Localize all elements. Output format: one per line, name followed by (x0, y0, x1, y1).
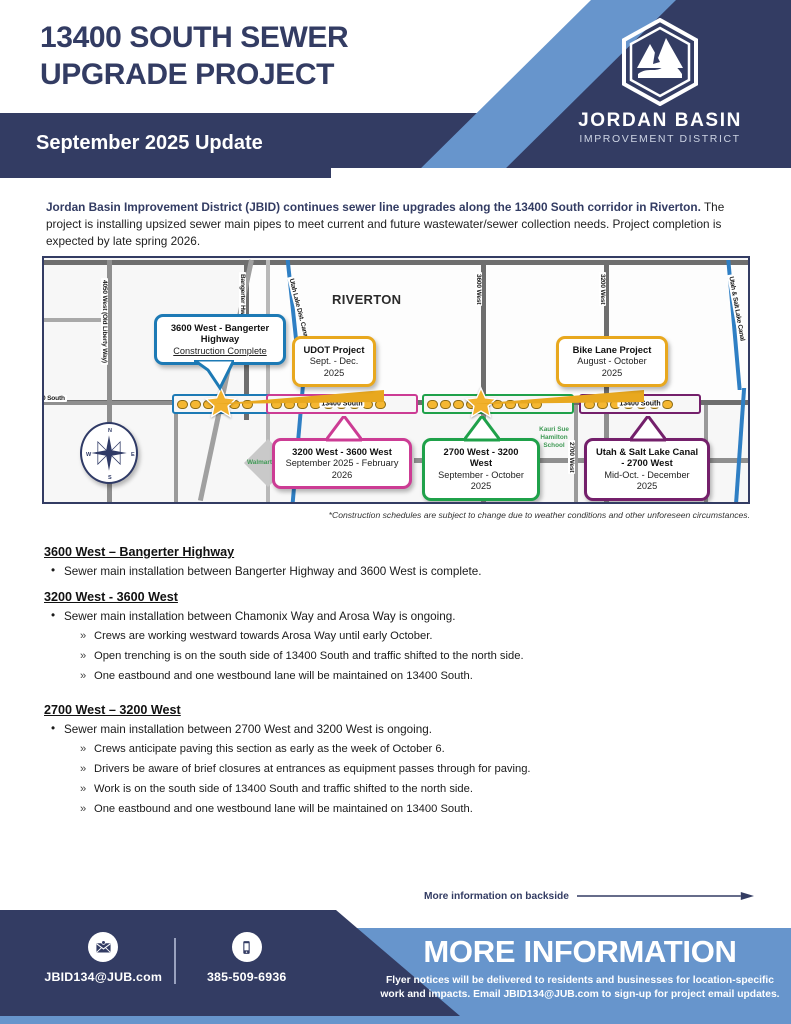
backside-label: More information on backside (424, 891, 569, 902)
page-title: 13400 SOUTH SEWER UPGRADE PROJECT (40, 20, 500, 93)
sub-bullet-item: Open trenching is on the south side of 1… (94, 649, 754, 664)
sub-bullet-item: Drivers be aware of brief closures at en… (94, 762, 754, 777)
arrow-right-icon (577, 891, 754, 901)
leader-line-bike-lane (474, 388, 644, 418)
callout-2700-3200[interactable]: 2700 West - 3200 West September - Octobe… (422, 438, 540, 501)
footer-description: Flyer notices will be delivered to resid… (380, 974, 780, 1001)
footer-phone-item[interactable]: 385-509-6936 (176, 932, 318, 984)
sub-bullet-item: Work is on the south side of 13400 South… (94, 782, 754, 797)
footer-contact-group: JBID134@JUB.com 385-509-6936 (0, 932, 350, 984)
logo-name: JORDAN BASIN (575, 110, 745, 132)
phone-icon-circle (232, 932, 262, 962)
city-label-riverton: RIVERTON (332, 292, 401, 307)
callout-title: 3600 West - Bangerter Highway (164, 322, 276, 345)
callout-bike-lane[interactable]: Bike Lane Project August - October 2025 (556, 336, 668, 387)
sub-bullet-item: Crews are working westward towards Arosa… (94, 629, 754, 644)
callout-tail-2700-3200 (464, 416, 500, 442)
section-heading: 2700 West – 3200 West (44, 703, 754, 717)
road-label-4050-west: 4050 West (Old Liberty Way) (101, 278, 108, 365)
map-disclaimer: *Construction schedules are subject to c… (42, 510, 750, 520)
callout-subtitle: Sept. - Dec. 2025 (302, 356, 366, 379)
header-subtitle: September 2025 Update (36, 132, 263, 155)
road-label-3600-west: 3600 West (475, 272, 482, 306)
callout-3200-3600[interactable]: 3200 West - 3600 West September 2025 - F… (272, 438, 412, 489)
poi-label-walmart: Walmart (247, 459, 272, 466)
section-2700-3200: 2700 West – 3200 West Sewer main install… (44, 703, 754, 822)
logo-subtitle: IMPROVEMENT DISTRICT (575, 133, 745, 145)
callout-subtitle: Construction Complete (164, 346, 276, 358)
callout-canal-2700[interactable]: Utah & Salt Lake Canal - 2700 West Mid-O… (584, 438, 710, 501)
intro-paragraph: Jordan Basin Improvement District (JBID)… (46, 199, 746, 250)
email-icon-circle (88, 932, 118, 962)
segment-dash (662, 400, 673, 409)
callout-tail-3600-bangerter (194, 360, 234, 392)
callout-tail-canal-2700 (630, 416, 666, 442)
sub-bullet-item: Crews anticipate paving this section as … (94, 742, 754, 757)
footer-title: MORE INFORMATION (380, 936, 780, 967)
poi-label-kauri-sue-hamilton-school: Kauri Sue Hamilton School (534, 426, 574, 450)
intro-lead: Jordan Basin Improvement District (JBID)… (46, 200, 701, 214)
compass-south-label: S (108, 475, 112, 481)
bullet-item: Sewer main installation between Bangerte… (64, 564, 754, 580)
callout-3600-bangerter[interactable]: 3600 West - Bangerter Highway Constructi… (154, 314, 286, 365)
section-heading: 3600 West – Bangerter Highway (44, 545, 754, 559)
road-south-minor-1 (174, 405, 178, 504)
segment-dash (177, 400, 188, 409)
callout-subtitle: August - October 2025 (566, 356, 658, 379)
callout-title: Utah & Salt Lake Canal - 2700 West (594, 446, 700, 469)
callout-udot[interactable]: UDOT Project Sept. - Dec. 2025 (292, 336, 376, 387)
road-label-3200-west: 3200 West (599, 272, 606, 306)
footer-email-label: JBID134@JUB.com (32, 970, 174, 984)
flyer-page: 13400 SOUTH SEWER UPGRADE PROJECT Septem… (0, 0, 791, 1024)
callout-title: 2700 West - 3200 West (432, 446, 530, 469)
road-top-horizontal (44, 260, 750, 265)
callout-subtitle: Mid-Oct. - December 2025 (594, 470, 700, 493)
section-3600-bangerter: 3600 West – Bangerter Highway Sewer main… (44, 545, 754, 584)
callout-title: Bike Lane Project (566, 344, 658, 355)
segment-dash (190, 400, 201, 409)
project-map: 0 South 4050 West (Old Liberty Way) Bang… (42, 256, 750, 504)
callout-subtitle: September 2025 - February 2026 (282, 458, 402, 481)
callout-title: 3200 West - 3600 West (282, 446, 402, 457)
callout-tail-3200-3600 (326, 416, 362, 442)
backside-note: More information on backside (424, 888, 754, 904)
bullet-item: Sewer main installation between 2700 Wes… (64, 722, 754, 738)
envelope-icon (95, 939, 112, 956)
mobile-phone-icon (238, 939, 255, 956)
page-header: 13400 SOUTH SEWER UPGRADE PROJECT Septem… (0, 0, 791, 178)
logo: JORDAN BASIN IMPROVEMENT DISTRICT (575, 18, 745, 145)
footer-more-information: MORE INFORMATION Flyer notices will be d… (380, 936, 780, 1001)
road-upper-left-curve (44, 318, 104, 322)
segment-dash (440, 400, 451, 409)
jordan-basin-logo-icon (620, 18, 700, 106)
road-label-0-south: 0 South (42, 395, 67, 402)
callout-subtitle: September - October 2025 (432, 470, 530, 493)
compass-west-label: W (86, 452, 91, 458)
segment-dash (427, 400, 438, 409)
section-heading: 3200 West - 3600 West (44, 590, 754, 604)
compass-north-label: N (108, 428, 112, 434)
compass-east-label: E (131, 452, 135, 458)
canal-utah-salt-lake-lower (734, 388, 746, 504)
page-footer: JBID134@JUB.com 385-509-6936 MORE INFORM… (0, 910, 791, 1024)
compass-rose: N E S W (80, 422, 138, 484)
sub-bullet-item: One eastbound and one westbound lane wil… (94, 669, 754, 684)
footer-email-item[interactable]: JBID134@JUB.com (32, 932, 174, 984)
sub-bullet-item: One eastbound and one westbound lane wil… (94, 802, 754, 817)
section-3200-3600: 3200 West - 3600 West Sewer main install… (44, 590, 754, 689)
road-2200-west-upper (749, 260, 750, 400)
segment-dash (453, 400, 464, 409)
footer-phone-label: 385-509-6936 (176, 970, 318, 984)
callout-title: UDOT Project (302, 344, 366, 355)
bullet-item: Sewer main installation between Chamonix… (64, 609, 754, 625)
leader-line-udot (214, 388, 394, 418)
map-canvas: 0 South 4050 West (Old Liberty Way) Bang… (44, 258, 748, 502)
